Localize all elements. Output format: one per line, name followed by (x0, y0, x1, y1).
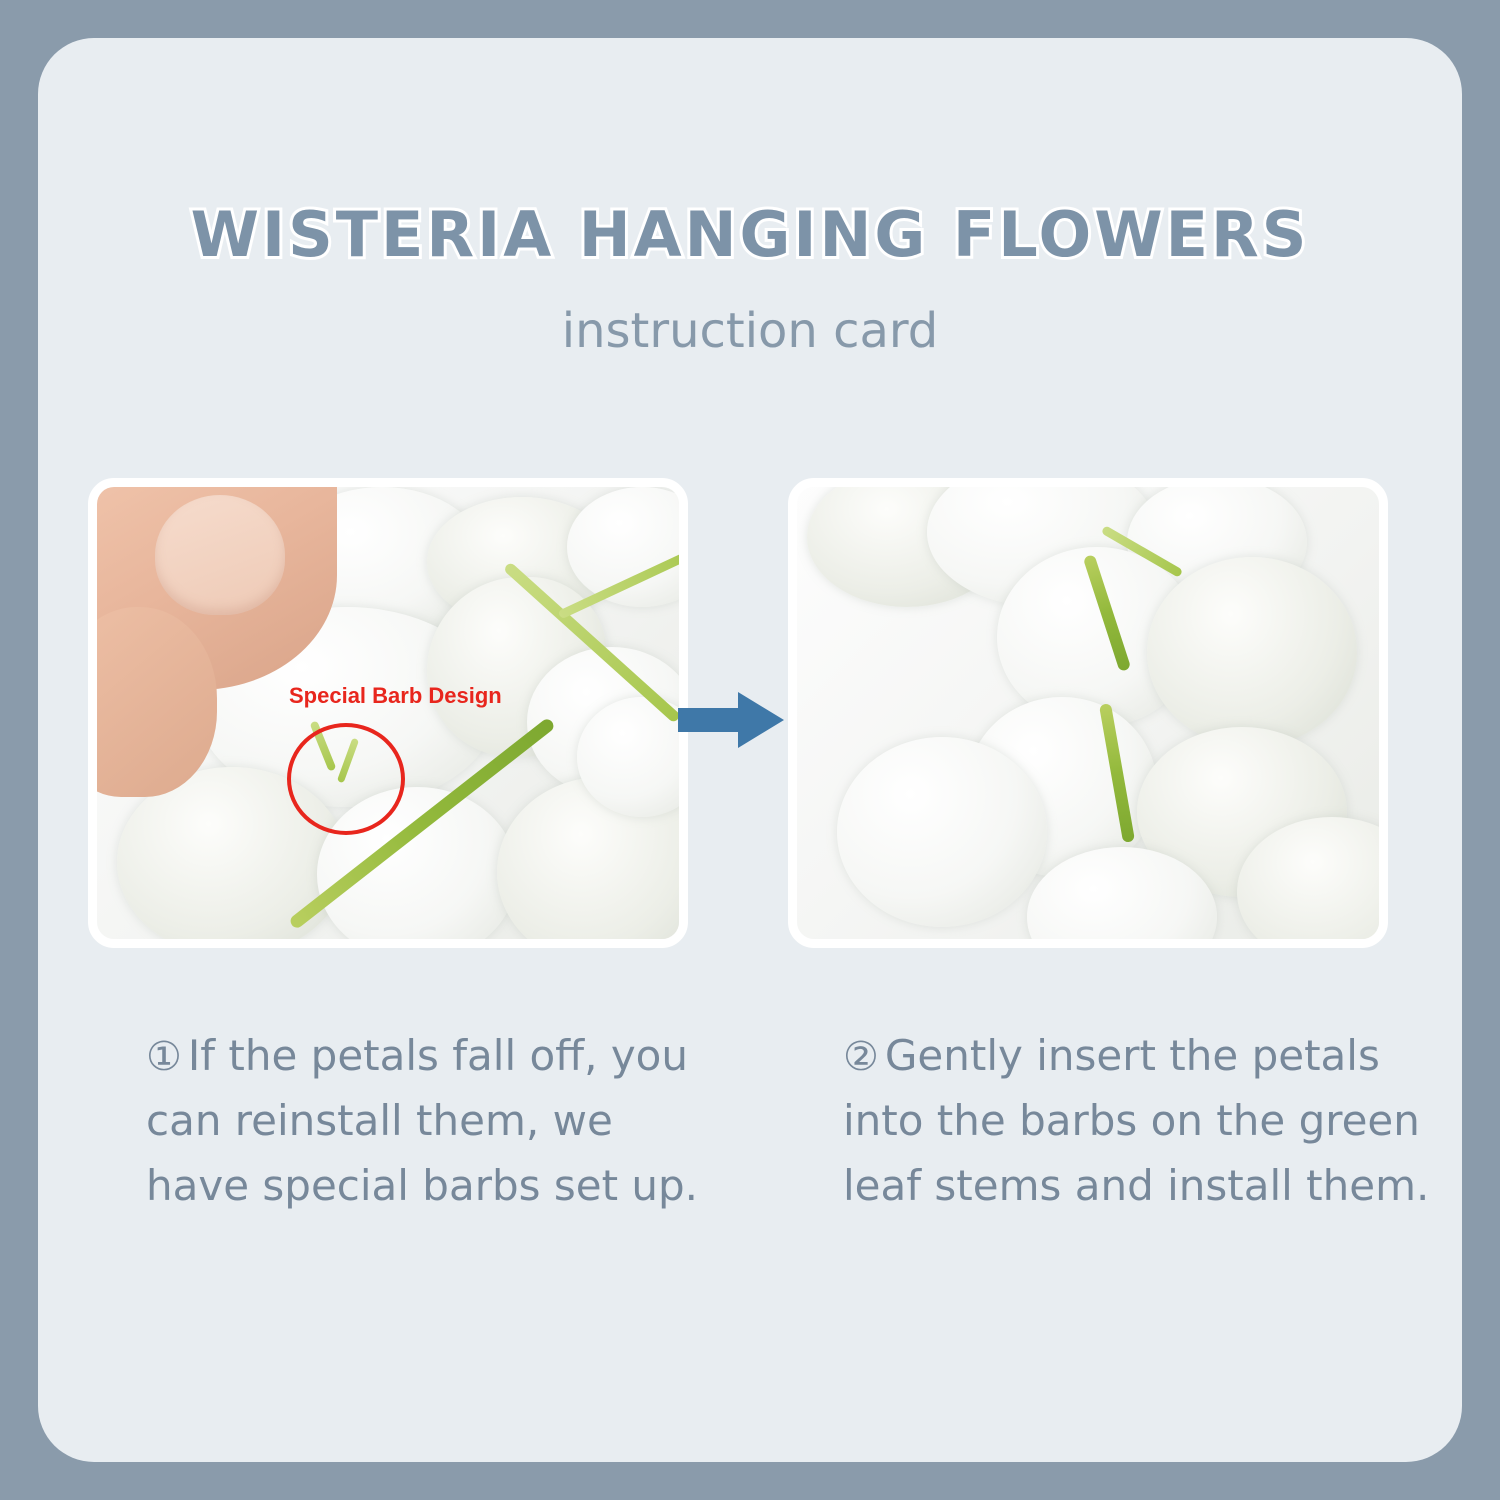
petal-shape (837, 737, 1047, 927)
instruction-card: Wisteria Hanging Flowers instruction car… (38, 38, 1462, 1462)
barb-highlight-circle (287, 723, 405, 835)
step-1: ①If the petals fall off, you can reinsta… (146, 1023, 726, 1218)
step-2-text: Gently insert the petals into the barbs … (843, 1031, 1429, 1210)
page-title: Wisteria Hanging Flowers (38, 198, 1462, 271)
arrow-right-icon (678, 688, 786, 752)
barb-annotation-label: Special Barb Design (289, 683, 502, 709)
step-2: ②Gently insert the petals into the barbs… (843, 1023, 1463, 1218)
step-1-number: ① (146, 1034, 182, 1080)
photo-installed-petals (788, 478, 1388, 948)
step-1-text: If the petals fall off, you can reinstal… (146, 1031, 698, 1210)
page-subtitle: instruction card (38, 303, 1462, 359)
step-2-number: ② (843, 1034, 879, 1080)
petal-shape (1147, 557, 1357, 747)
photo-petal-and-barb: Special Barb Design (88, 478, 688, 948)
fingernail-shape (155, 495, 285, 615)
